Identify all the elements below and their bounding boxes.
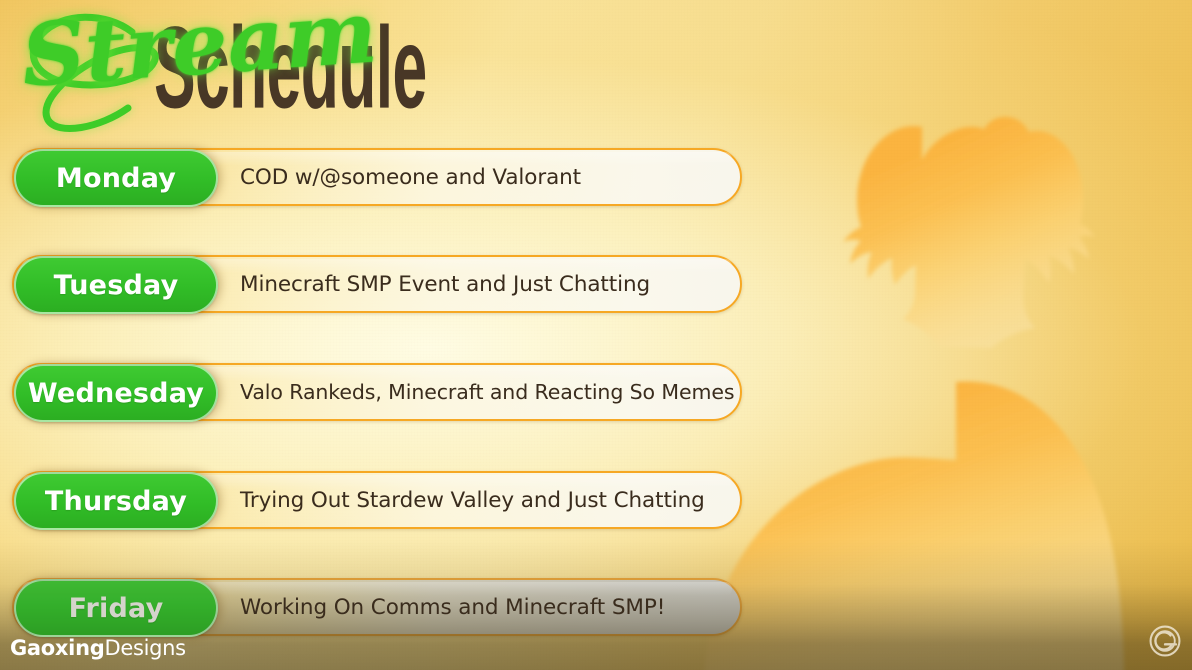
brand-name-bold: Gaoxing: [10, 636, 104, 660]
brand-name-light: Designs: [104, 636, 185, 660]
day-label: Friday: [69, 593, 164, 624]
activity-text: Valo Rankeds, Minecraft and Reacting So …: [240, 380, 734, 404]
day-pill-friday[interactable]: Friday: [14, 579, 218, 637]
schedule-row-tuesday[interactable]: Tuesday Minecraft SMP Event and Just Cha…: [12, 255, 742, 313]
activity-text: COD w/@someone and Valorant: [240, 165, 581, 190]
activity-text: Working On Comms and Minecraft SMP!: [240, 595, 665, 620]
circle-g-logo-icon[interactable]: [1148, 624, 1182, 658]
day-label: Thursday: [45, 486, 187, 517]
poster-canvas: Schedule Stream Monday COD w/@someone an…: [0, 0, 1192, 670]
schedule-row-wednesday[interactable]: Wednesday Valo Rankeds, Minecraft and Re…: [12, 363, 742, 421]
day-pill-monday[interactable]: Monday: [14, 149, 218, 207]
activity-text: Minecraft SMP Event and Just Chatting: [240, 272, 650, 297]
day-pill-tuesday[interactable]: Tuesday: [14, 256, 218, 314]
day-label: Wednesday: [28, 378, 204, 409]
schedule-row-friday[interactable]: Friday Working On Comms and Minecraft SM…: [12, 578, 742, 636]
title-stream-word: Stream: [19, 0, 380, 100]
day-label: Tuesday: [54, 270, 179, 301]
day-pill-thursday[interactable]: Thursday: [14, 472, 218, 530]
day-label: Monday: [56, 163, 176, 194]
day-pill-wednesday[interactable]: Wednesday: [14, 364, 218, 422]
activity-text: Trying Out Stardew Valley and Just Chatt…: [240, 488, 705, 513]
schedule-row-thursday[interactable]: Thursday Trying Out Stardew Valley and J…: [12, 471, 742, 529]
schedule-row-monday[interactable]: Monday COD w/@someone and Valorant: [12, 148, 742, 206]
footer-brand: GaoxingDesigns: [10, 636, 186, 660]
